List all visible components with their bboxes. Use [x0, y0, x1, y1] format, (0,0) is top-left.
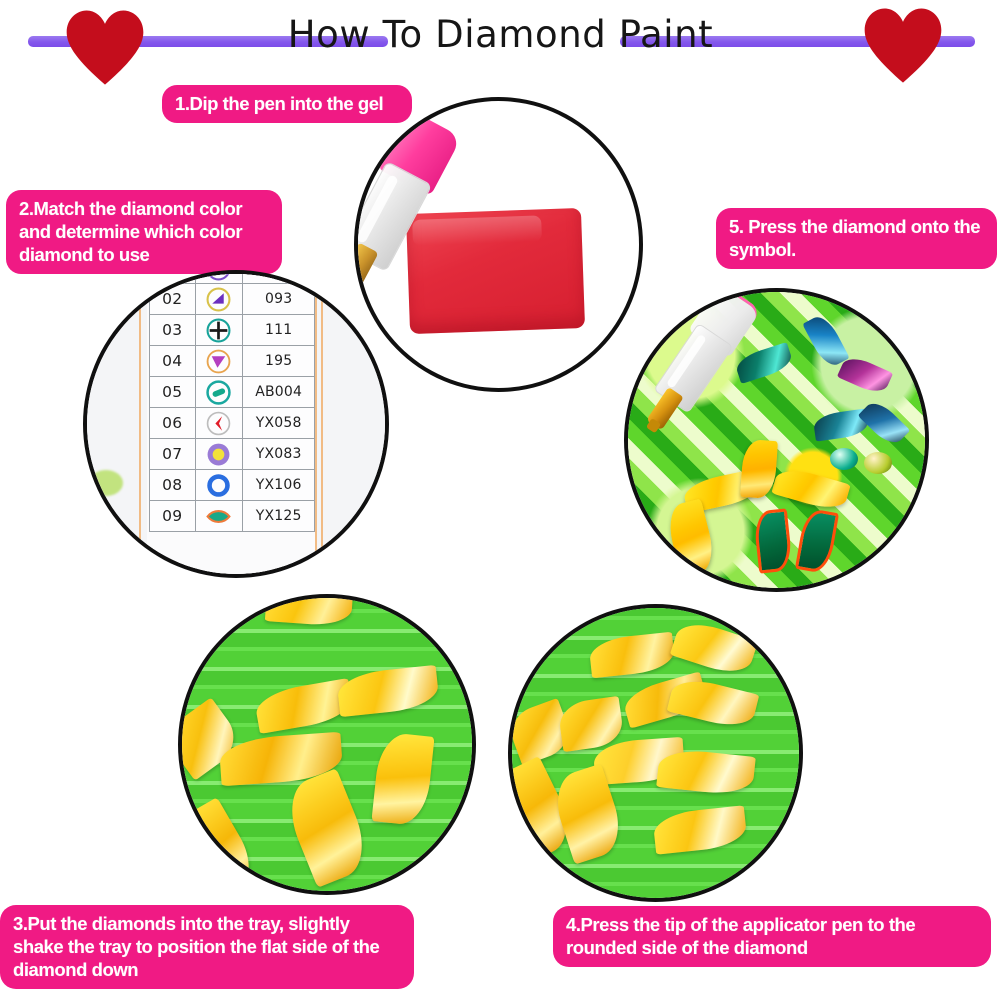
gem-green — [795, 508, 839, 575]
printed-canvas — [624, 288, 929, 592]
chart-row-number: 09 — [150, 501, 196, 532]
chart-margin-line — [315, 270, 317, 578]
diamond — [279, 768, 375, 888]
gem — [858, 397, 911, 449]
step-1-label: 1.Dip the pen into the gel — [162, 85, 412, 123]
chevron-left-icon — [206, 411, 231, 436]
chart-row-number: 05 — [150, 377, 196, 408]
diamond-tray — [508, 604, 803, 902]
gem — [864, 452, 892, 474]
triangle-down-icon — [206, 349, 231, 374]
step-4-photo — [508, 604, 803, 902]
step-5-label: 5. Press the diamond onto the symbol. — [716, 208, 997, 269]
plus-icon — [206, 318, 231, 343]
chart-row-code: 195 — [243, 346, 315, 377]
diamond — [588, 632, 676, 679]
chart-row-number: 03 — [150, 315, 196, 346]
table-row: 08YX106 — [150, 470, 315, 501]
chart-row-code: 093 — [243, 284, 315, 315]
circle-double-dot-icon — [206, 270, 231, 281]
chart-margin-line — [139, 270, 141, 578]
page-title: How To Diamond Paint — [0, 12, 1001, 58]
step-2-label: 2.Match the diamond color and determine … — [6, 190, 282, 274]
leaf-icon — [206, 504, 231, 529]
chart-row-number: 07 — [150, 439, 196, 470]
chart-row-code: YX125 — [243, 501, 315, 532]
donut-dot-icon — [206, 442, 231, 467]
chart-row-symbol — [195, 346, 243, 377]
gem-yellow — [771, 464, 850, 513]
diamond — [656, 747, 756, 797]
chart-row-symbol — [195, 501, 243, 532]
chart-row-code: 111 — [243, 315, 315, 346]
diamond — [371, 731, 434, 826]
capsule-icon — [206, 380, 231, 405]
chart-row-number: 06 — [150, 408, 196, 439]
chart-row-symbol — [195, 439, 243, 470]
chart-row-number: 02 — [150, 284, 196, 315]
step-2-photo: 02002093031110419505AB00406YX05807YX0830… — [83, 270, 389, 578]
chart-row-number: 04 — [150, 346, 196, 377]
diamond — [670, 617, 758, 680]
step-5-photo — [624, 288, 929, 592]
chart-row-symbol — [195, 315, 243, 346]
chart-row-code: AB004 — [243, 377, 315, 408]
chart-row-symbol — [195, 284, 243, 315]
background-blur-blob — [93, 530, 119, 552]
table-row: 02093 — [150, 284, 315, 315]
gem — [733, 342, 794, 384]
step-3-photo — [178, 594, 476, 895]
step-3-label: 3.Put the diamonds into the tray, slight… — [0, 905, 414, 989]
table-row: 04195 — [150, 346, 315, 377]
chart-row-code: YX083 — [243, 439, 315, 470]
color-code-chart: 02002093031110419505AB00406YX05807YX0830… — [87, 274, 385, 574]
table-row: 03111 — [150, 315, 315, 346]
chart-row-symbol — [195, 377, 243, 408]
diamond — [667, 674, 760, 732]
table-row: 05AB004 — [150, 377, 315, 408]
step-4-label: 4.Press the tip of the applicator pen to… — [553, 906, 991, 967]
chart-row-code: YX106 — [243, 470, 315, 501]
background-blur-blob — [89, 470, 123, 496]
chart-row-code: 020 — [243, 270, 315, 284]
gem — [830, 448, 858, 470]
gel-pad — [406, 208, 585, 334]
gem-green — [753, 508, 793, 573]
diamond — [652, 805, 748, 854]
table-row: 07YX083 — [150, 439, 315, 470]
gem — [802, 312, 849, 370]
table-row: 06YX058 — [150, 408, 315, 439]
diamond-tray — [178, 594, 476, 895]
step-1-photo — [354, 97, 643, 392]
diamond — [336, 665, 440, 717]
chart-row-number: 08 — [150, 470, 196, 501]
chart-row-symbol — [195, 408, 243, 439]
ring-icon — [206, 473, 231, 498]
header: How To Diamond Paint — [0, 0, 1001, 78]
chart-row-code: YX058 — [243, 408, 315, 439]
chart-row-symbol — [195, 470, 243, 501]
how-to-diamond-paint-infographic: How To Diamond Paint 1.Dip the pen into … — [0, 0, 1001, 1001]
chart-margin-line — [321, 270, 323, 578]
color-code-table: 02002093031110419505AB00406YX05807YX0830… — [149, 270, 315, 532]
table-row: 09YX125 — [150, 501, 315, 532]
diamond — [265, 594, 353, 627]
gem-yellow — [664, 498, 718, 577]
triangle-fill-icon — [206, 287, 231, 312]
diamond — [178, 797, 263, 895]
